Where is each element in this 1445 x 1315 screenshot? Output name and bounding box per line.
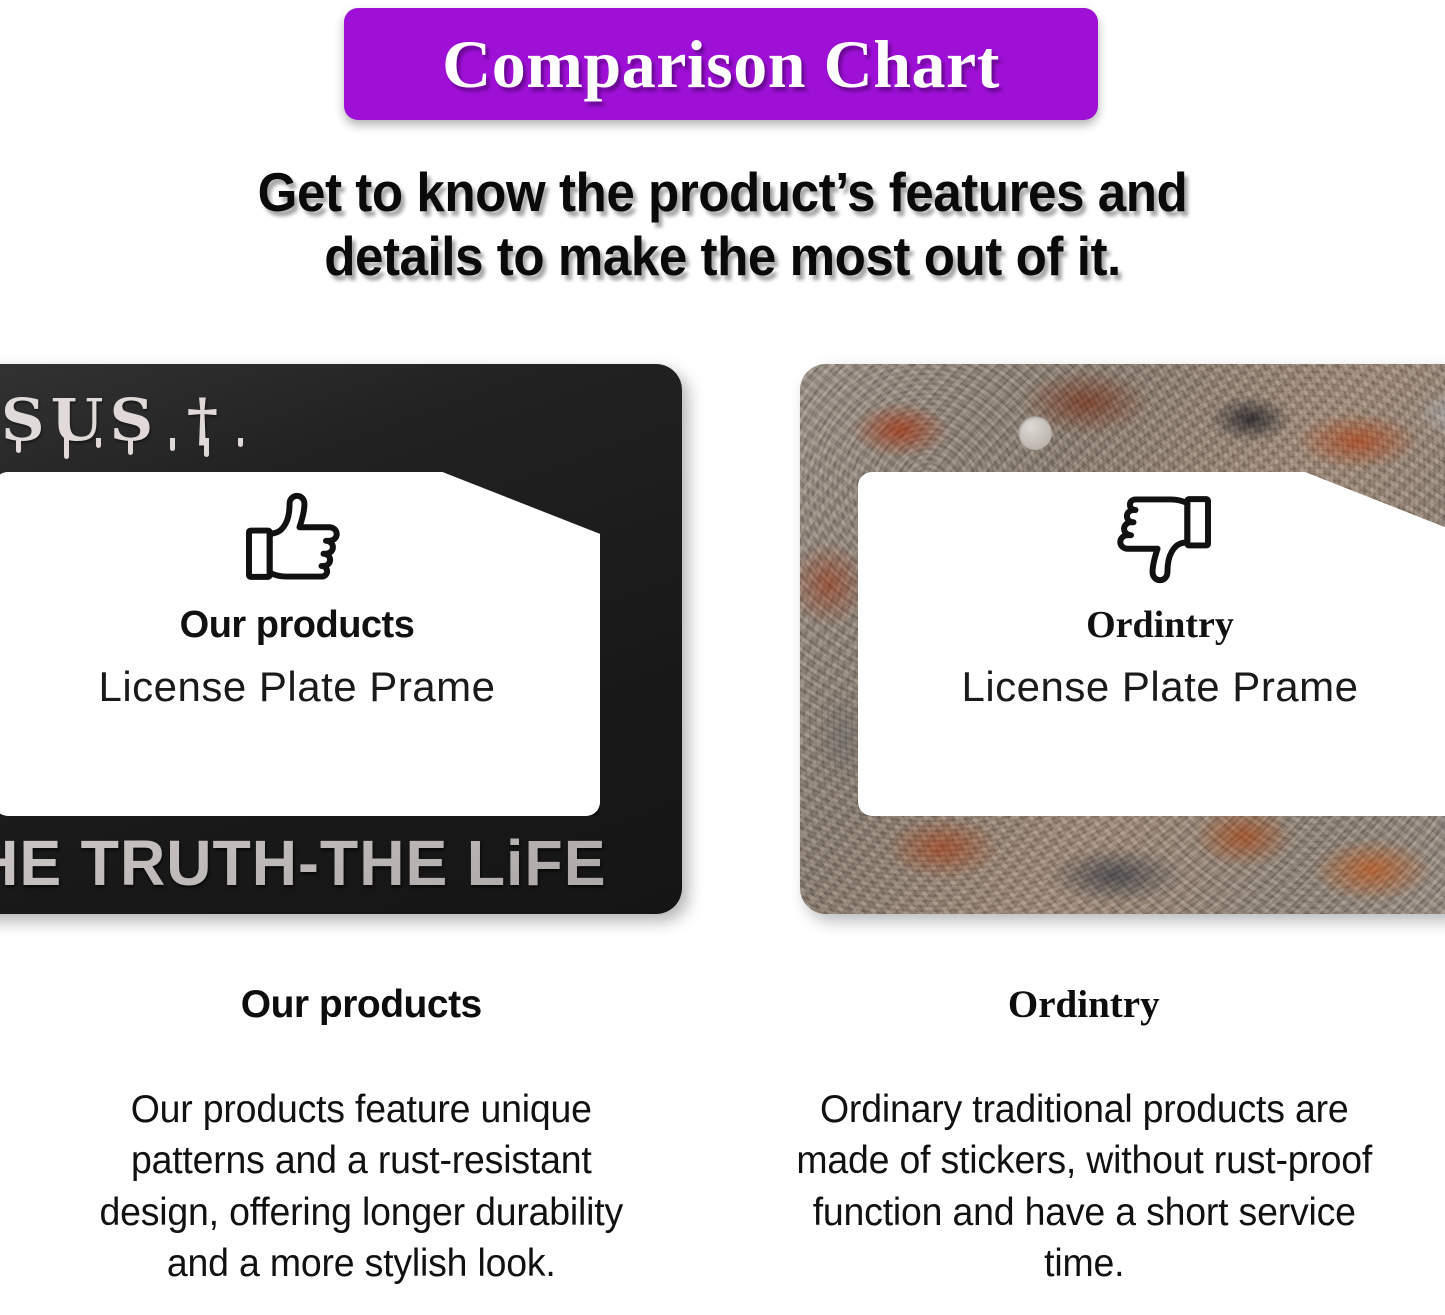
thumbs-up-icon <box>243 490 351 586</box>
comparison-description-row: Our products Our products feature unique… <box>0 985 1445 1315</box>
ordinary-product-license-plate-frame: Ordintry License Plate Prame <box>800 364 1445 914</box>
license-plate-opening-right: Ordintry License Plate Prame <box>858 472 1445 816</box>
subtitle-line-1: Get to know the product’s features and <box>51 160 1395 224</box>
right-caption-subtitle: License Plate Prame <box>961 666 1358 708</box>
right-caption-block: Ordintry License Plate Prame <box>858 490 1445 708</box>
ordintry-column: Ordintry Ordinary traditional products a… <box>723 985 1445 1315</box>
mounting-hole-icon <box>1018 416 1052 450</box>
our-product-license-plate-frame: JESUS † -THE TRUTH-THE LiFE <box>0 364 682 914</box>
thumbs-down-icon <box>1106 490 1214 586</box>
left-caption-block: Our products License Plate Prame <box>0 490 600 708</box>
subtitle: Get to know the product’s features and d… <box>51 160 1395 289</box>
subtitle-line-2: details to make the most out of it. <box>51 224 1395 288</box>
comparison-chart-banner: Comparison Chart <box>344 8 1098 120</box>
ordintry-description: Ordinary traditional products are made o… <box>783 1084 1384 1290</box>
banner-background: Comparison Chart <box>344 8 1098 120</box>
frame-bottom-text: -THE TRUTH-THE LiFE <box>0 826 598 900</box>
our-products-description: Our products feature unique patterns and… <box>61 1084 662 1290</box>
frame-top-text: JESUS † <box>0 386 403 454</box>
product-comparison-images: JESUS † -THE TRUTH-THE LiFE <box>0 350 1445 930</box>
our-products-heading: Our products <box>48 985 675 1024</box>
left-caption-title: Our products <box>180 606 415 644</box>
our-products-column: Our products Our products feature unique… <box>0 985 723 1315</box>
ordintry-heading: Ordintry <box>771 985 1398 1024</box>
page-title: Comparison Chart <box>442 30 1000 98</box>
right-caption-title: Ordintry <box>1086 606 1234 644</box>
left-caption-subtitle: License Plate Prame <box>98 666 495 708</box>
license-plate-opening-left: Our products License Plate Prame <box>0 472 600 816</box>
